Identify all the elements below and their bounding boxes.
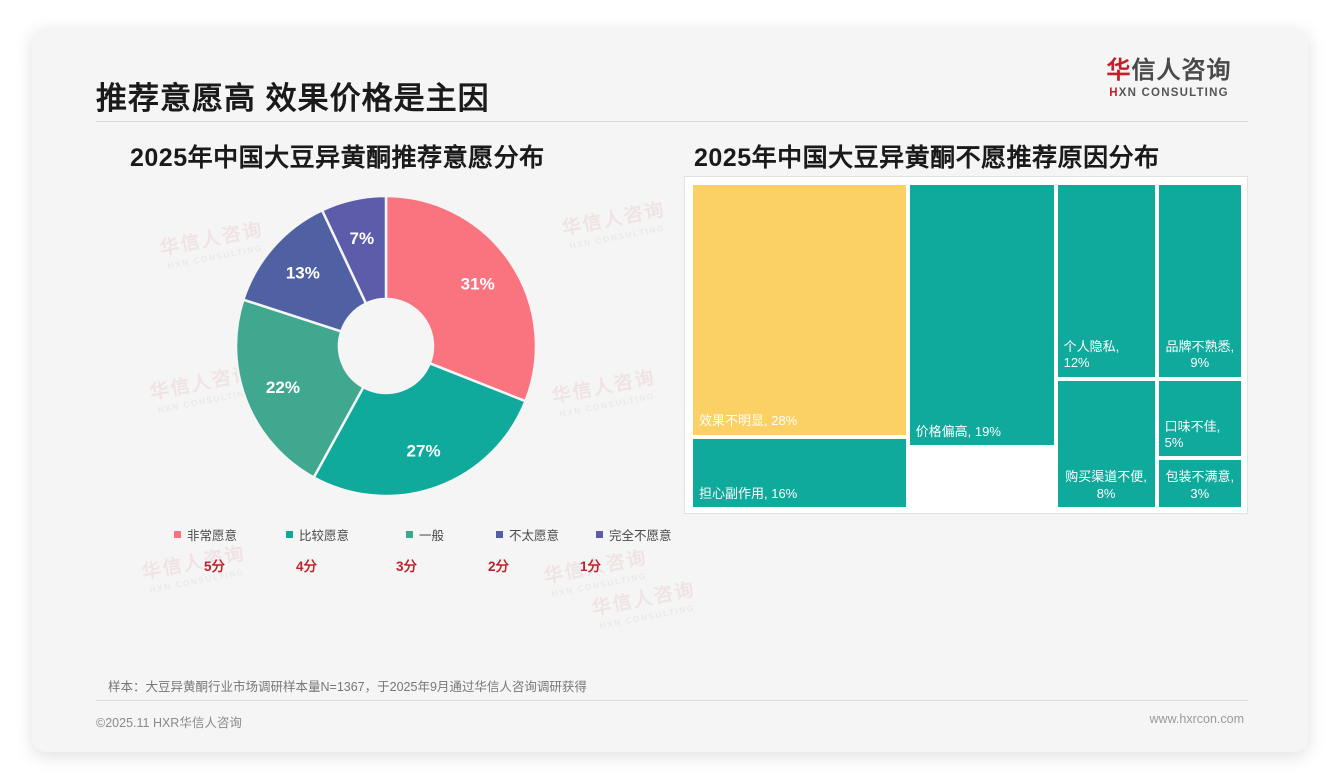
watermark-cn: 华信人咨询	[589, 574, 697, 621]
donut-slice-label: 13%	[286, 264, 320, 283]
left-chart-title: 2025年中国大豆异黄酮推荐意愿分布	[130, 138, 676, 174]
legend-swatch	[406, 531, 413, 538]
treemap-cell[interactable]: 口味不佳, 5%	[1157, 379, 1243, 459]
treemap-cell-label: 包装不满意, 3%	[1159, 469, 1241, 502]
treemap-cell-label: 价格偏高, 19%	[910, 424, 1054, 440]
treemap-cell[interactable]: 价格偏高, 19%	[908, 183, 1056, 447]
treemap-cell[interactable]: 品牌不熟悉, 9%	[1157, 183, 1243, 379]
donut-slice-label: 27%	[407, 441, 441, 460]
footer-copyright: ©2025.11 HXR华信人咨询	[96, 712, 242, 731]
slide-card: 推荐意愿高 效果价格是主因 华信人咨询 HXN CONSULTING 华信人咨询…	[32, 28, 1308, 752]
legend-swatch	[496, 531, 503, 538]
treemap-cell-label: 个人隐私, 12%	[1058, 339, 1155, 372]
logo-en-red: H	[1109, 87, 1119, 99]
score-label: 5分	[204, 555, 225, 575]
treemap-cell-label: 担心副作用, 16%	[693, 486, 906, 502]
donut-chart: 31%27%22%13%7%	[96, 176, 676, 516]
logo-cn-red: 华	[1107, 57, 1132, 84]
treemap-cell[interactable]: 效果不明显, 28%	[691, 183, 908, 437]
slide-header: 推荐意愿高 效果价格是主因 华信人咨询 HXN CONSULTING	[32, 28, 1308, 120]
legend-label: 非常愿意	[187, 525, 237, 544]
legend-item[interactable]: 非常愿意	[174, 525, 237, 544]
treemap-cell-label: 口味不佳, 5%	[1159, 419, 1241, 452]
logo-chinese-text: 华信人咨询	[1094, 58, 1244, 84]
watermark-en: HXN CONSULTING	[595, 602, 700, 632]
left-chart-panel: 2025年中国大豆异黄酮推荐意愿分布	[96, 138, 676, 174]
score-label: 1分	[580, 555, 601, 575]
treemap-cell-label: 品牌不熟悉, 9%	[1159, 339, 1241, 372]
donut-slice[interactable]	[386, 196, 536, 401]
score-label: 4分	[296, 555, 317, 575]
company-logo: 华信人咨询 HXN CONSULTING	[1094, 58, 1244, 99]
legend-item[interactable]: 一般	[406, 525, 444, 544]
treemap-chart: 效果不明显, 28%担心副作用, 16%价格偏高, 19%个人隐私, 12%购买…	[684, 176, 1248, 514]
score-label: 2分	[488, 555, 509, 575]
donut-slice-label: 31%	[461, 275, 495, 294]
legend-label: 完全不愿意	[609, 525, 672, 544]
treemap-cell[interactable]: 个人隐私, 12%	[1056, 183, 1157, 379]
legend-label: 一般	[419, 525, 444, 544]
logo-english-text: HXN CONSULTING	[1094, 87, 1244, 99]
right-chart-panel: 2025年中国大豆异黄酮不愿推荐原因分布	[684, 138, 1248, 174]
treemap-cell[interactable]: 担心副作用, 16%	[691, 437, 908, 509]
legend-label: 比较愿意	[299, 525, 349, 544]
score-row: 5分4分3分2分1分	[96, 552, 676, 578]
score-label: 3分	[396, 555, 417, 575]
footer-divider	[96, 700, 1248, 701]
right-chart-title: 2025年中国大豆异黄酮不愿推荐原因分布	[694, 138, 1248, 174]
logo-cn-rest: 信人咨询	[1132, 57, 1232, 84]
donut-slice-label: 22%	[266, 378, 300, 397]
treemap-cell[interactable]: 购买渠道不便, 8%	[1056, 379, 1157, 509]
treemap-cell[interactable]: 包装不满意, 3%	[1157, 458, 1243, 509]
footer-website: www.hxrcon.com	[1150, 712, 1244, 726]
page-title: 推荐意愿高 效果价格是主因	[96, 73, 490, 118]
legend-item[interactable]: 比较愿意	[286, 525, 349, 544]
legend-swatch	[286, 531, 293, 538]
sample-note: 样本：大豆异黄酮行业市场调研样本量N=1367，于2025年9月通过华信人咨询调…	[108, 676, 587, 695]
donut-legend: 非常愿意比较愿意一般不太愿意完全不愿意	[96, 520, 676, 548]
legend-label: 不太愿意	[509, 525, 559, 544]
legend-item[interactable]: 不太愿意	[496, 525, 559, 544]
donut-slice-label: 7%	[350, 229, 375, 248]
header-divider	[96, 121, 1248, 122]
treemap-cell-label: 效果不明显, 28%	[693, 413, 906, 429]
donut-chart-svg: 31%27%22%13%7%	[216, 176, 556, 516]
watermark: 华信人咨询 HXN CONSULTING	[589, 574, 699, 631]
legend-swatch	[596, 531, 603, 538]
legend-swatch	[174, 531, 181, 538]
legend-item[interactable]: 完全不愿意	[596, 525, 672, 544]
treemap-cells-container: 效果不明显, 28%担心副作用, 16%价格偏高, 19%个人隐私, 12%购买…	[691, 183, 1243, 509]
logo-en-rest: XN CONSULTING	[1119, 87, 1229, 99]
treemap-cell-label: 购买渠道不便, 8%	[1058, 469, 1155, 502]
